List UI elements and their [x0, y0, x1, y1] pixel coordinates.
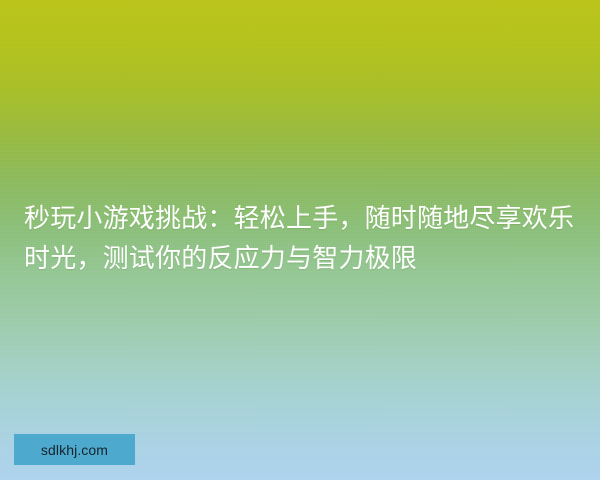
- site-watermark-badge[interactable]: sdlkhj.com: [14, 434, 135, 465]
- site-watermark-label: sdlkhj.com: [41, 443, 108, 457]
- banner-headline: 秒玩小游戏挑战：轻松上手，随时随地尽享欢乐时光，测试你的反应力与智力极限: [24, 198, 580, 278]
- banner-canvas: 秒玩小游戏挑战：轻松上手，随时随地尽享欢乐时光，测试你的反应力与智力极限 sdl…: [0, 0, 600, 480]
